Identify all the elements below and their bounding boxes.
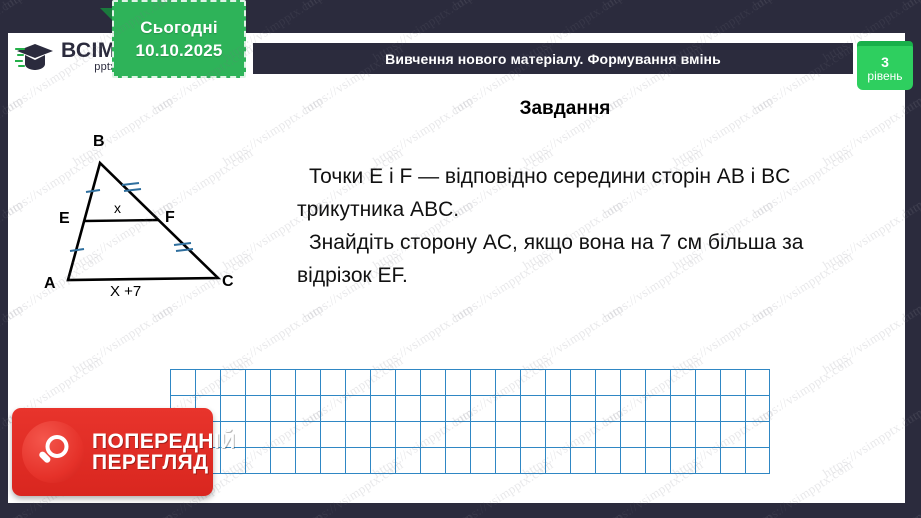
watermark-text: https://vsimpptx.com bbox=[750, 0, 856, 13]
watermark-text: https://vsimpptx.com bbox=[220, 509, 326, 518]
date-badge: Сьогодні 10.10.2025 bbox=[112, 0, 246, 78]
magnifier-glyph bbox=[33, 432, 73, 472]
vertex-label-e: E bbox=[59, 210, 70, 228]
date-badge-label: Сьогодні bbox=[140, 18, 218, 38]
level-badge: 3 рівень bbox=[857, 41, 913, 90]
task-line-1: Точки E i F — відповідно середини сторін… bbox=[297, 160, 877, 226]
watermark-text: https://vsimpptx.com bbox=[450, 0, 556, 13]
tick-eb bbox=[86, 190, 100, 192]
tick-bf-1 bbox=[122, 183, 139, 185]
midsegment-ef bbox=[84, 220, 159, 221]
task-line-2: Знайдіть сторону AC, якщо вона на 7 см б… bbox=[297, 226, 877, 292]
logo-name: ВСІМ bbox=[61, 40, 116, 61]
tick-fc-1 bbox=[174, 243, 191, 245]
header-bar: Вивчення нового матеріалу. Формування вм… bbox=[253, 43, 853, 74]
tick-ae bbox=[70, 249, 84, 251]
header-title: Вивчення нового матеріалу. Формування вм… bbox=[385, 51, 721, 67]
watermark-text: https://vsimpptx.com bbox=[0, 0, 106, 13]
notebook-grid[interactable] bbox=[170, 369, 770, 474]
preview-line-2: ПЕРЕГЛЯД bbox=[92, 452, 236, 473]
watermark-text: https://vsimpptx.com bbox=[670, 509, 776, 518]
magnifier-icon bbox=[22, 421, 84, 483]
preview-badge[interactable]: ПОПЕРЕДНІЙ ПЕРЕГЛЯД bbox=[12, 408, 213, 496]
logo-subname: pptx bbox=[61, 62, 116, 73]
date-badge-value: 10.10.2025 bbox=[135, 41, 222, 61]
watermark-text: https://vsimpptx.com bbox=[370, 509, 476, 518]
level-label: рівень bbox=[867, 70, 902, 82]
vertex-label-c: C bbox=[222, 273, 234, 291]
midsegment-length-label: x bbox=[114, 200, 121, 216]
task-text: Точки E i F — відповідно середини сторін… bbox=[297, 160, 877, 292]
level-number: 3 bbox=[881, 55, 889, 69]
preview-line-1: ПОПЕРЕДНІЙ bbox=[92, 431, 236, 452]
watermark-text: https://vsimpptx.com bbox=[600, 0, 706, 13]
watermark-text: https://vsimpptx.com bbox=[70, 509, 176, 518]
triangle-figure: B A C E F x X +7 bbox=[22, 125, 272, 315]
vertex-label-f: F bbox=[165, 209, 175, 227]
brand-logo[interactable]: ВСІМ pptx bbox=[10, 33, 118, 79]
logo-text: ВСІМ pptx bbox=[61, 40, 116, 73]
watermark-text: https://vsimpptx.com bbox=[820, 509, 921, 518]
base-length-label: X +7 bbox=[110, 283, 141, 300]
slide-root: B A C E F x X +7 Завдання Точки E i F — … bbox=[0, 0, 921, 518]
vertex-label-b: B bbox=[93, 133, 105, 151]
watermark-text: https://vsimpptx.com bbox=[0, 509, 26, 518]
graduation-cap-icon bbox=[15, 39, 57, 73]
level-badge-body: 3 рівень bbox=[857, 46, 913, 90]
watermark-text: https://vsimpptx.com bbox=[900, 0, 921, 13]
watermark-text: https://vsimpptx.com bbox=[520, 509, 626, 518]
page-title: Завдання bbox=[330, 98, 800, 120]
date-badge-body: Сьогодні 10.10.2025 bbox=[112, 0, 246, 78]
vertex-label-a: A bbox=[44, 275, 56, 293]
watermark-text: https://vsimpptx.com bbox=[300, 0, 406, 13]
preview-badge-text: ПОПЕРЕДНІЙ ПЕРЕГЛЯД bbox=[92, 431, 236, 474]
